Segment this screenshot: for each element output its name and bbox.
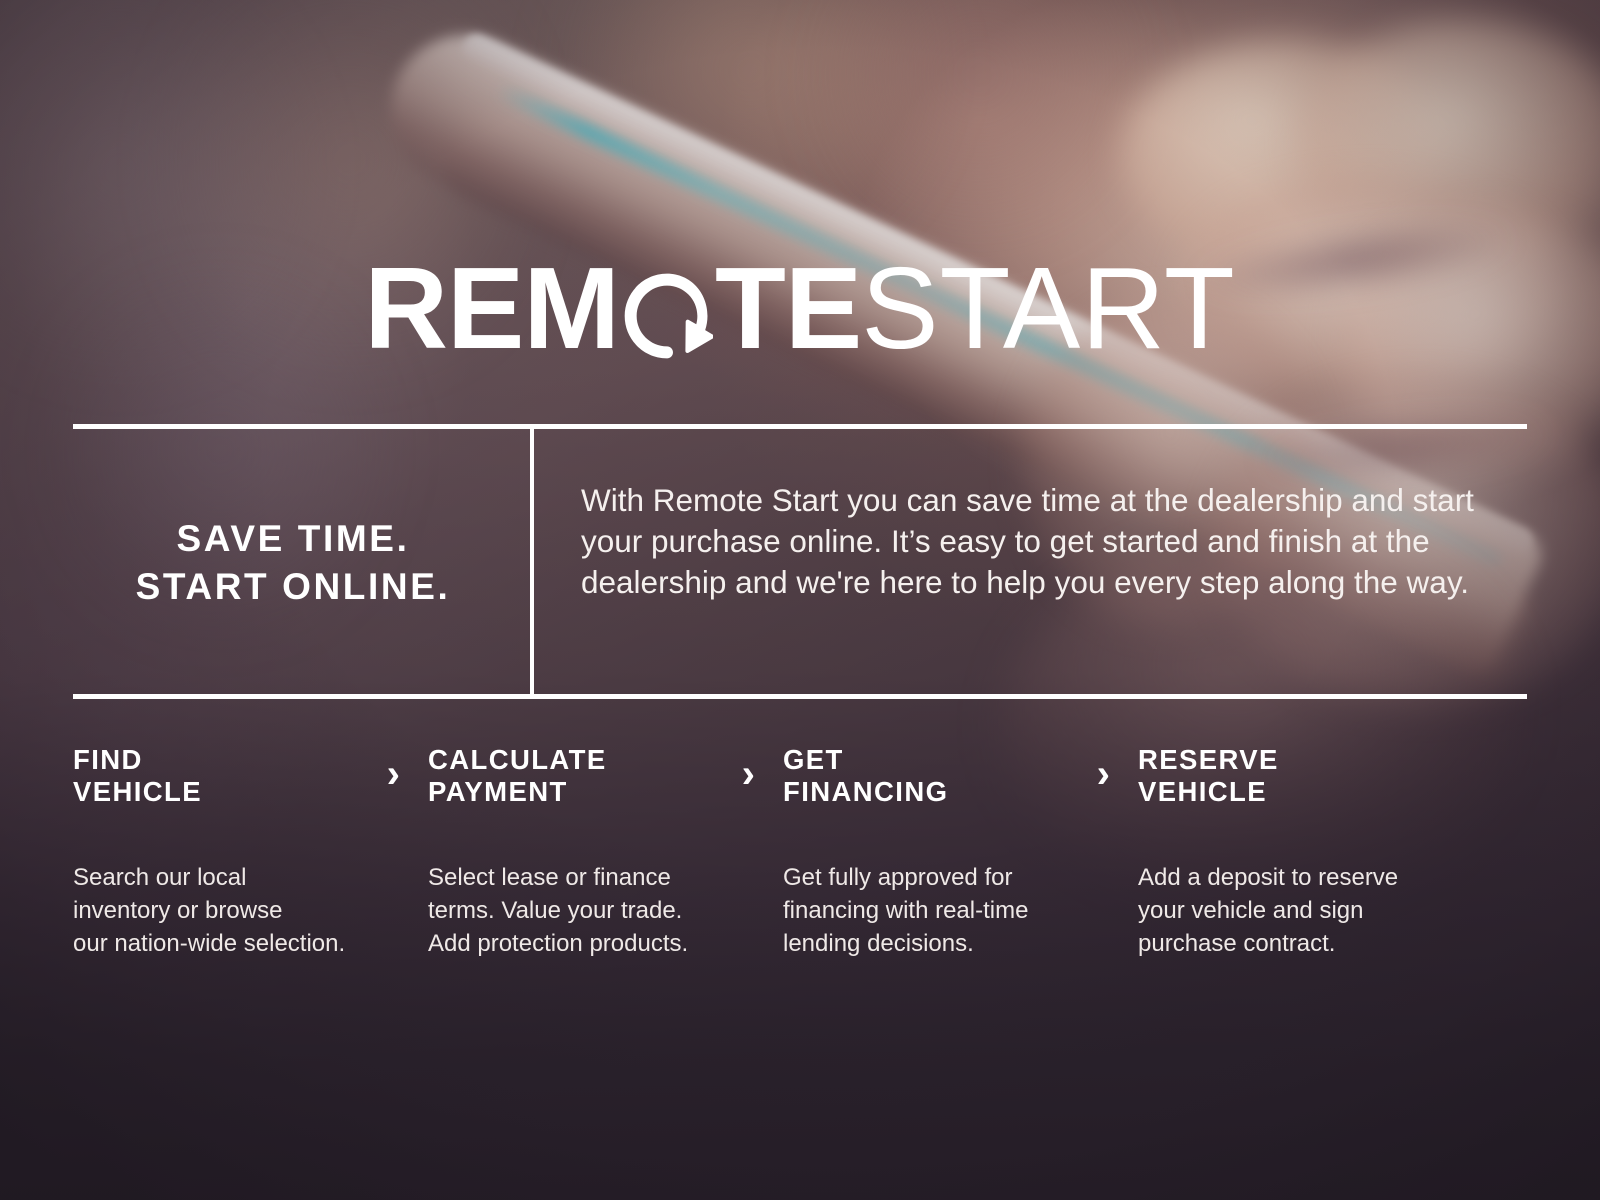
divider-bottom: [73, 694, 1527, 699]
logo-text-rem: REM: [364, 243, 619, 373]
step-item-reserve-vehicle[interactable]: RESERVE VEHICLE Add a deposit to reserve…: [1138, 744, 1493, 960]
logo-text-start: START: [861, 243, 1236, 373]
hero-banner: REMTESTART SAVE TIME. START ONLINE. With…: [0, 0, 1600, 1200]
divider-vertical: [530, 424, 534, 699]
divider-top: [73, 424, 1527, 429]
step-title: RESERVE VEHICLE: [1138, 744, 1493, 809]
logo-wordmark: REMTESTART: [0, 250, 1600, 366]
circular-restart-arrow-icon: [621, 270, 713, 362]
step-title: CALCULATE PAYMENT: [428, 744, 783, 809]
chevron-right-icon: ›: [1097, 754, 1110, 794]
hero-paragraph: With Remote Start you can save time at t…: [581, 480, 1481, 603]
step-description: Get fully approved for financing with re…: [783, 861, 1138, 960]
step-item-find-vehicle[interactable]: FIND VEHICLE Search our local inventory …: [73, 744, 428, 960]
step-description: Add a deposit to reserve your vehicle an…: [1138, 861, 1493, 960]
headline-line-1: SAVE TIME.: [73, 515, 513, 563]
step-item-calculate-payment[interactable]: CALCULATE PAYMENT Select lease or financ…: [428, 744, 783, 960]
chevron-right-icon: ›: [742, 754, 755, 794]
step-title: GET FINANCING: [783, 744, 1138, 809]
hero-headline: SAVE TIME. START ONLINE.: [73, 515, 513, 611]
logo-text-te: TE: [715, 243, 861, 373]
step-item-get-financing[interactable]: GET FINANCING Get fully approved for fin…: [783, 744, 1138, 960]
step-title: FIND VEHICLE: [73, 744, 428, 809]
chevron-right-icon: ›: [387, 754, 400, 794]
step-description: Select lease or finance terms. Value you…: [428, 861, 783, 960]
step-description: Search our local inventory or browse our…: [73, 861, 428, 960]
steps-list: FIND VEHICLE Search our local inventory …: [73, 744, 1533, 960]
headline-line-2: START ONLINE.: [73, 563, 513, 611]
